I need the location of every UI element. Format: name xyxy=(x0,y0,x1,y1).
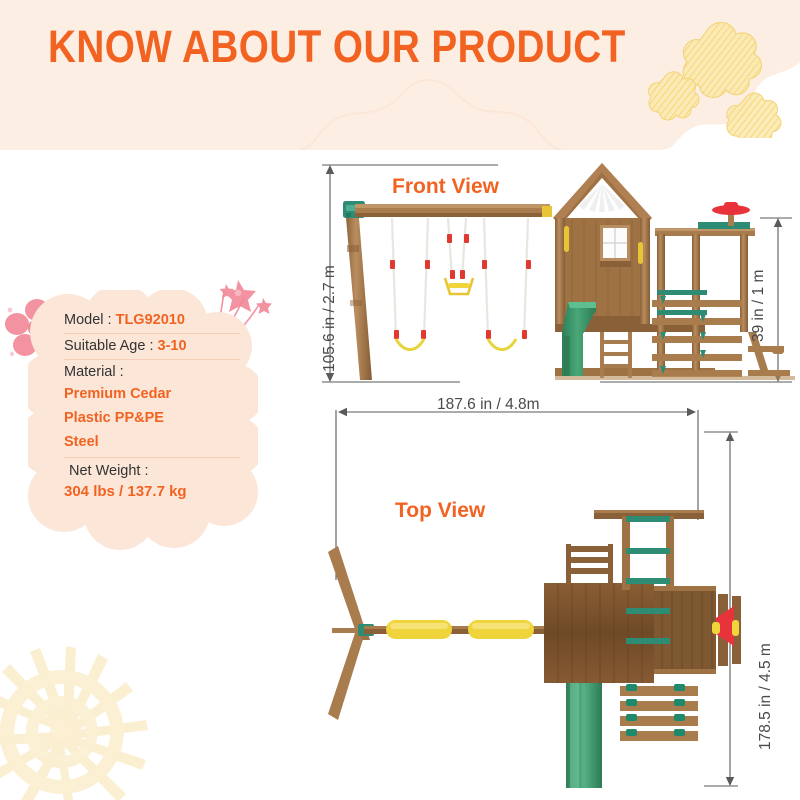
page-title: KNOW ABOUT OUR PRODUCT xyxy=(48,21,626,73)
spec-row-model: Model : TLG92010 xyxy=(64,308,240,334)
spec-row-net-weight: Net Weight : 304 lbs / 137.7 kg xyxy=(64,458,240,506)
header-band: KNOW ABOUT OUR PRODUCT xyxy=(0,0,800,150)
top-view-diagram xyxy=(300,390,800,800)
spec-row-age: Suitable Age : 3-10 xyxy=(64,334,240,360)
front-view-label: Front View xyxy=(392,175,499,199)
top-view-label: Top View xyxy=(395,499,485,523)
spec-label-net-weight: Net Weight : xyxy=(64,461,240,481)
spec-value-material-3: Steel xyxy=(64,430,240,454)
top-view-depth-dimension: 178.5 in / 4.5 m xyxy=(757,643,775,750)
sun-doodle-icon xyxy=(0,636,220,800)
spec-label-model: Model : xyxy=(64,312,112,328)
spec-list: Model : TLG92010 Suitable Age : 3-10 Mat… xyxy=(64,308,240,506)
top-view-width-dimension: 187.6 in / 4.8m xyxy=(437,396,540,414)
front-view-diagram xyxy=(300,150,800,400)
spec-card: Model : TLG92010 Suitable Age : 3-10 Mat… xyxy=(28,290,258,552)
spec-value-model: TLG92010 xyxy=(116,312,185,328)
front-view-height-dimension: 105.6 in / 2.7 m xyxy=(321,265,339,372)
front-view-deck-height-dimension: 39 in / 1 m xyxy=(750,270,768,342)
spec-value-material-2: Plastic PP&PE xyxy=(64,406,240,430)
spec-value-age: 3-10 xyxy=(158,338,187,354)
spec-value-net-weight: 304 lbs / 137.7 kg xyxy=(64,481,240,503)
spec-label-age: Suitable Age : xyxy=(64,338,154,354)
spec-label-material: Material : xyxy=(64,364,124,380)
spec-row-material: Material : Premium Cedar Plastic PP&PE S… xyxy=(64,360,240,458)
product-infographic: KNOW ABOUT OUR PRODUCT xyxy=(0,0,800,800)
spec-value-material-1: Premium Cedar xyxy=(64,382,240,406)
